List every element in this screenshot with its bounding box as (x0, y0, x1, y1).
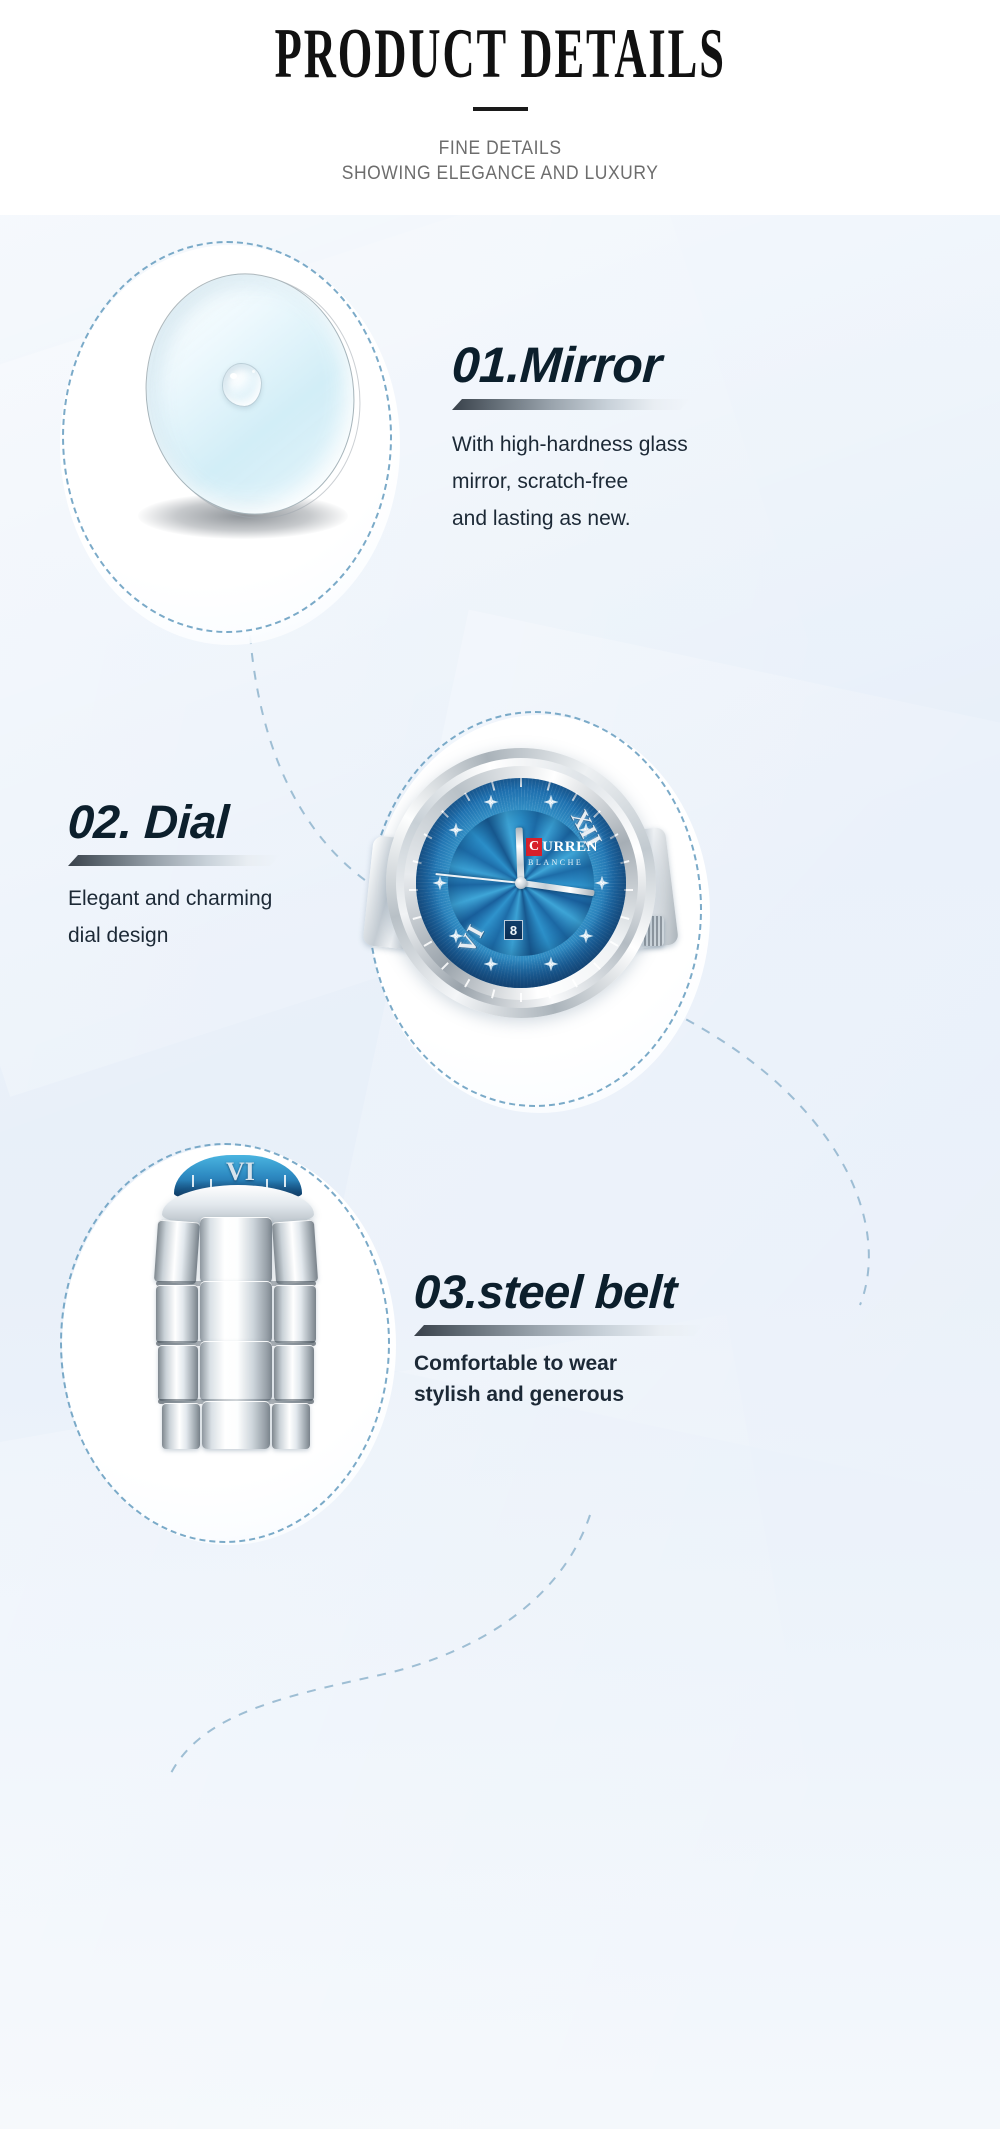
bracelet-center-link-2 (200, 1281, 272, 1343)
belt-heading-underline (414, 1325, 704, 1336)
dial-body-line-2: dial design (68, 917, 468, 954)
mirror-body-line-3: and lasting as new. (452, 500, 972, 537)
mirror-heading-underline (452, 399, 690, 410)
dial-heading-underline (68, 855, 280, 866)
bracelet-tick-1 (192, 1175, 194, 1187)
mirror-text-block: 01.Mirror With high-hardness glass mirro… (452, 337, 972, 537)
mirror-body-text: With high-hardness glass mirror, scratch… (452, 426, 972, 537)
page-header: PRODUCT DETAILS FINE DETAILS SHOWING ELE… (0, 0, 1000, 215)
dial-text-block: 02. Dial Elegant and charming dial desig… (68, 795, 468, 954)
subtitle-line-1: FINE DETAILS (342, 136, 659, 161)
belt-text-block: 03.steel belt Comfortable to wear stylis… (414, 1265, 974, 1410)
belt-body-text: Comfortable to wear stylish and generous (414, 1348, 974, 1410)
belt-body-line-2: stylish and generous (414, 1379, 974, 1410)
brand-initial-badge: C (526, 838, 542, 856)
watch-hands-center-cap (515, 877, 527, 889)
watch-date-window: 8 (504, 920, 523, 940)
page-title: PRODUCT DETAILS (274, 14, 725, 95)
bracelet-tick-4 (284, 1175, 286, 1187)
brand-name-text: URREN (542, 839, 598, 856)
title-divider (473, 107, 528, 111)
dial-body-text: Elegant and charming dial design (68, 880, 468, 954)
bracelet-center-link-4 (202, 1401, 270, 1449)
bracelet-center-link-3 (200, 1341, 272, 1401)
bracelet-side-link-left-3 (158, 1345, 198, 1401)
features-canvas: 01.Mirror With high-hardness glass mirro… (0, 215, 1000, 2129)
mirror-heading: 01.Mirror (451, 337, 974, 393)
subtitle-line-2: SHOWING ELEGANCE AND LUXURY (342, 161, 659, 186)
dial-body-line-1: Elegant and charming (68, 880, 468, 917)
bracelet-roman-vi: VI (226, 1157, 255, 1187)
steel-bracelet-photo: VI (140, 1155, 330, 1445)
droplet-highlight-small (252, 370, 255, 373)
watch-brand-logo: C URREN BLANCHE (526, 838, 598, 867)
mirror-body-line-2: mirror, scratch-free (452, 463, 972, 500)
dial-heading: 02. Dial (67, 795, 470, 849)
belt-body-line-1: Comfortable to wear (414, 1348, 974, 1379)
bracelet-center-link-1 (200, 1217, 272, 1283)
page-subtitle: FINE DETAILS SHOWING ELEGANCE AND LUXURY (342, 136, 659, 186)
brand-sub-text: BLANCHE (528, 858, 598, 867)
brand-name-row: C URREN (526, 838, 598, 856)
bracelet-side-link-left-4 (162, 1403, 200, 1449)
mirror-body-line-1: With high-hardness glass (452, 426, 972, 463)
bracelet-side-link-right-1 (272, 1220, 318, 1285)
bracelet-side-link-left-1 (154, 1220, 200, 1285)
bracelet-side-link-right-2 (274, 1285, 316, 1343)
bracelet-side-link-left-2 (156, 1285, 198, 1343)
bracelet-side-link-right-4 (272, 1403, 310, 1449)
water-droplet (222, 363, 262, 407)
bracelet-side-link-right-3 (274, 1345, 314, 1401)
droplet-highlight (230, 373, 237, 379)
belt-heading: 03.steel belt (413, 1265, 976, 1319)
